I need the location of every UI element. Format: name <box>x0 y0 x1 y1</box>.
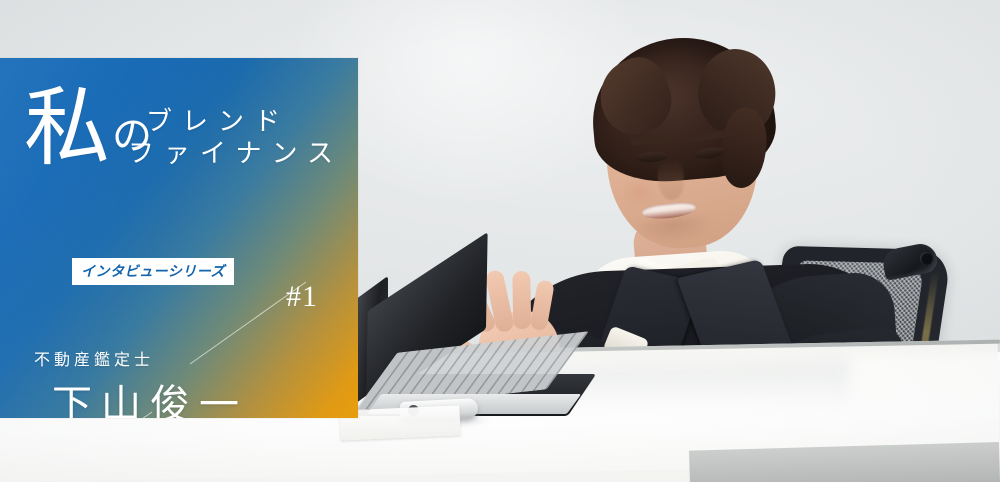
person-name: 下山俊一 <box>52 372 248 418</box>
series-badge: インタビューシリーズ <box>72 258 234 285</box>
title-subtitle-line-1: ブレンド <box>146 106 343 138</box>
title-subtitle-line-2: ファイナンス <box>128 138 343 170</box>
title-card: 私 の ブレンド ファイナンス インタビューシリーズ #1 不動産鑑定士 下山俊… <box>0 58 358 418</box>
laptop <box>352 296 592 416</box>
title-kanji: 私 <box>24 92 110 166</box>
person-role: 不動産鑑定士 <box>34 346 154 370</box>
issue-number: #1 <box>286 280 318 314</box>
title-subtitle: ブレンド ファイナンス <box>146 106 343 169</box>
interview-banner: 私 の ブレンド ファイナンス インタビューシリーズ #1 不動産鑑定士 下山俊… <box>0 0 1000 482</box>
